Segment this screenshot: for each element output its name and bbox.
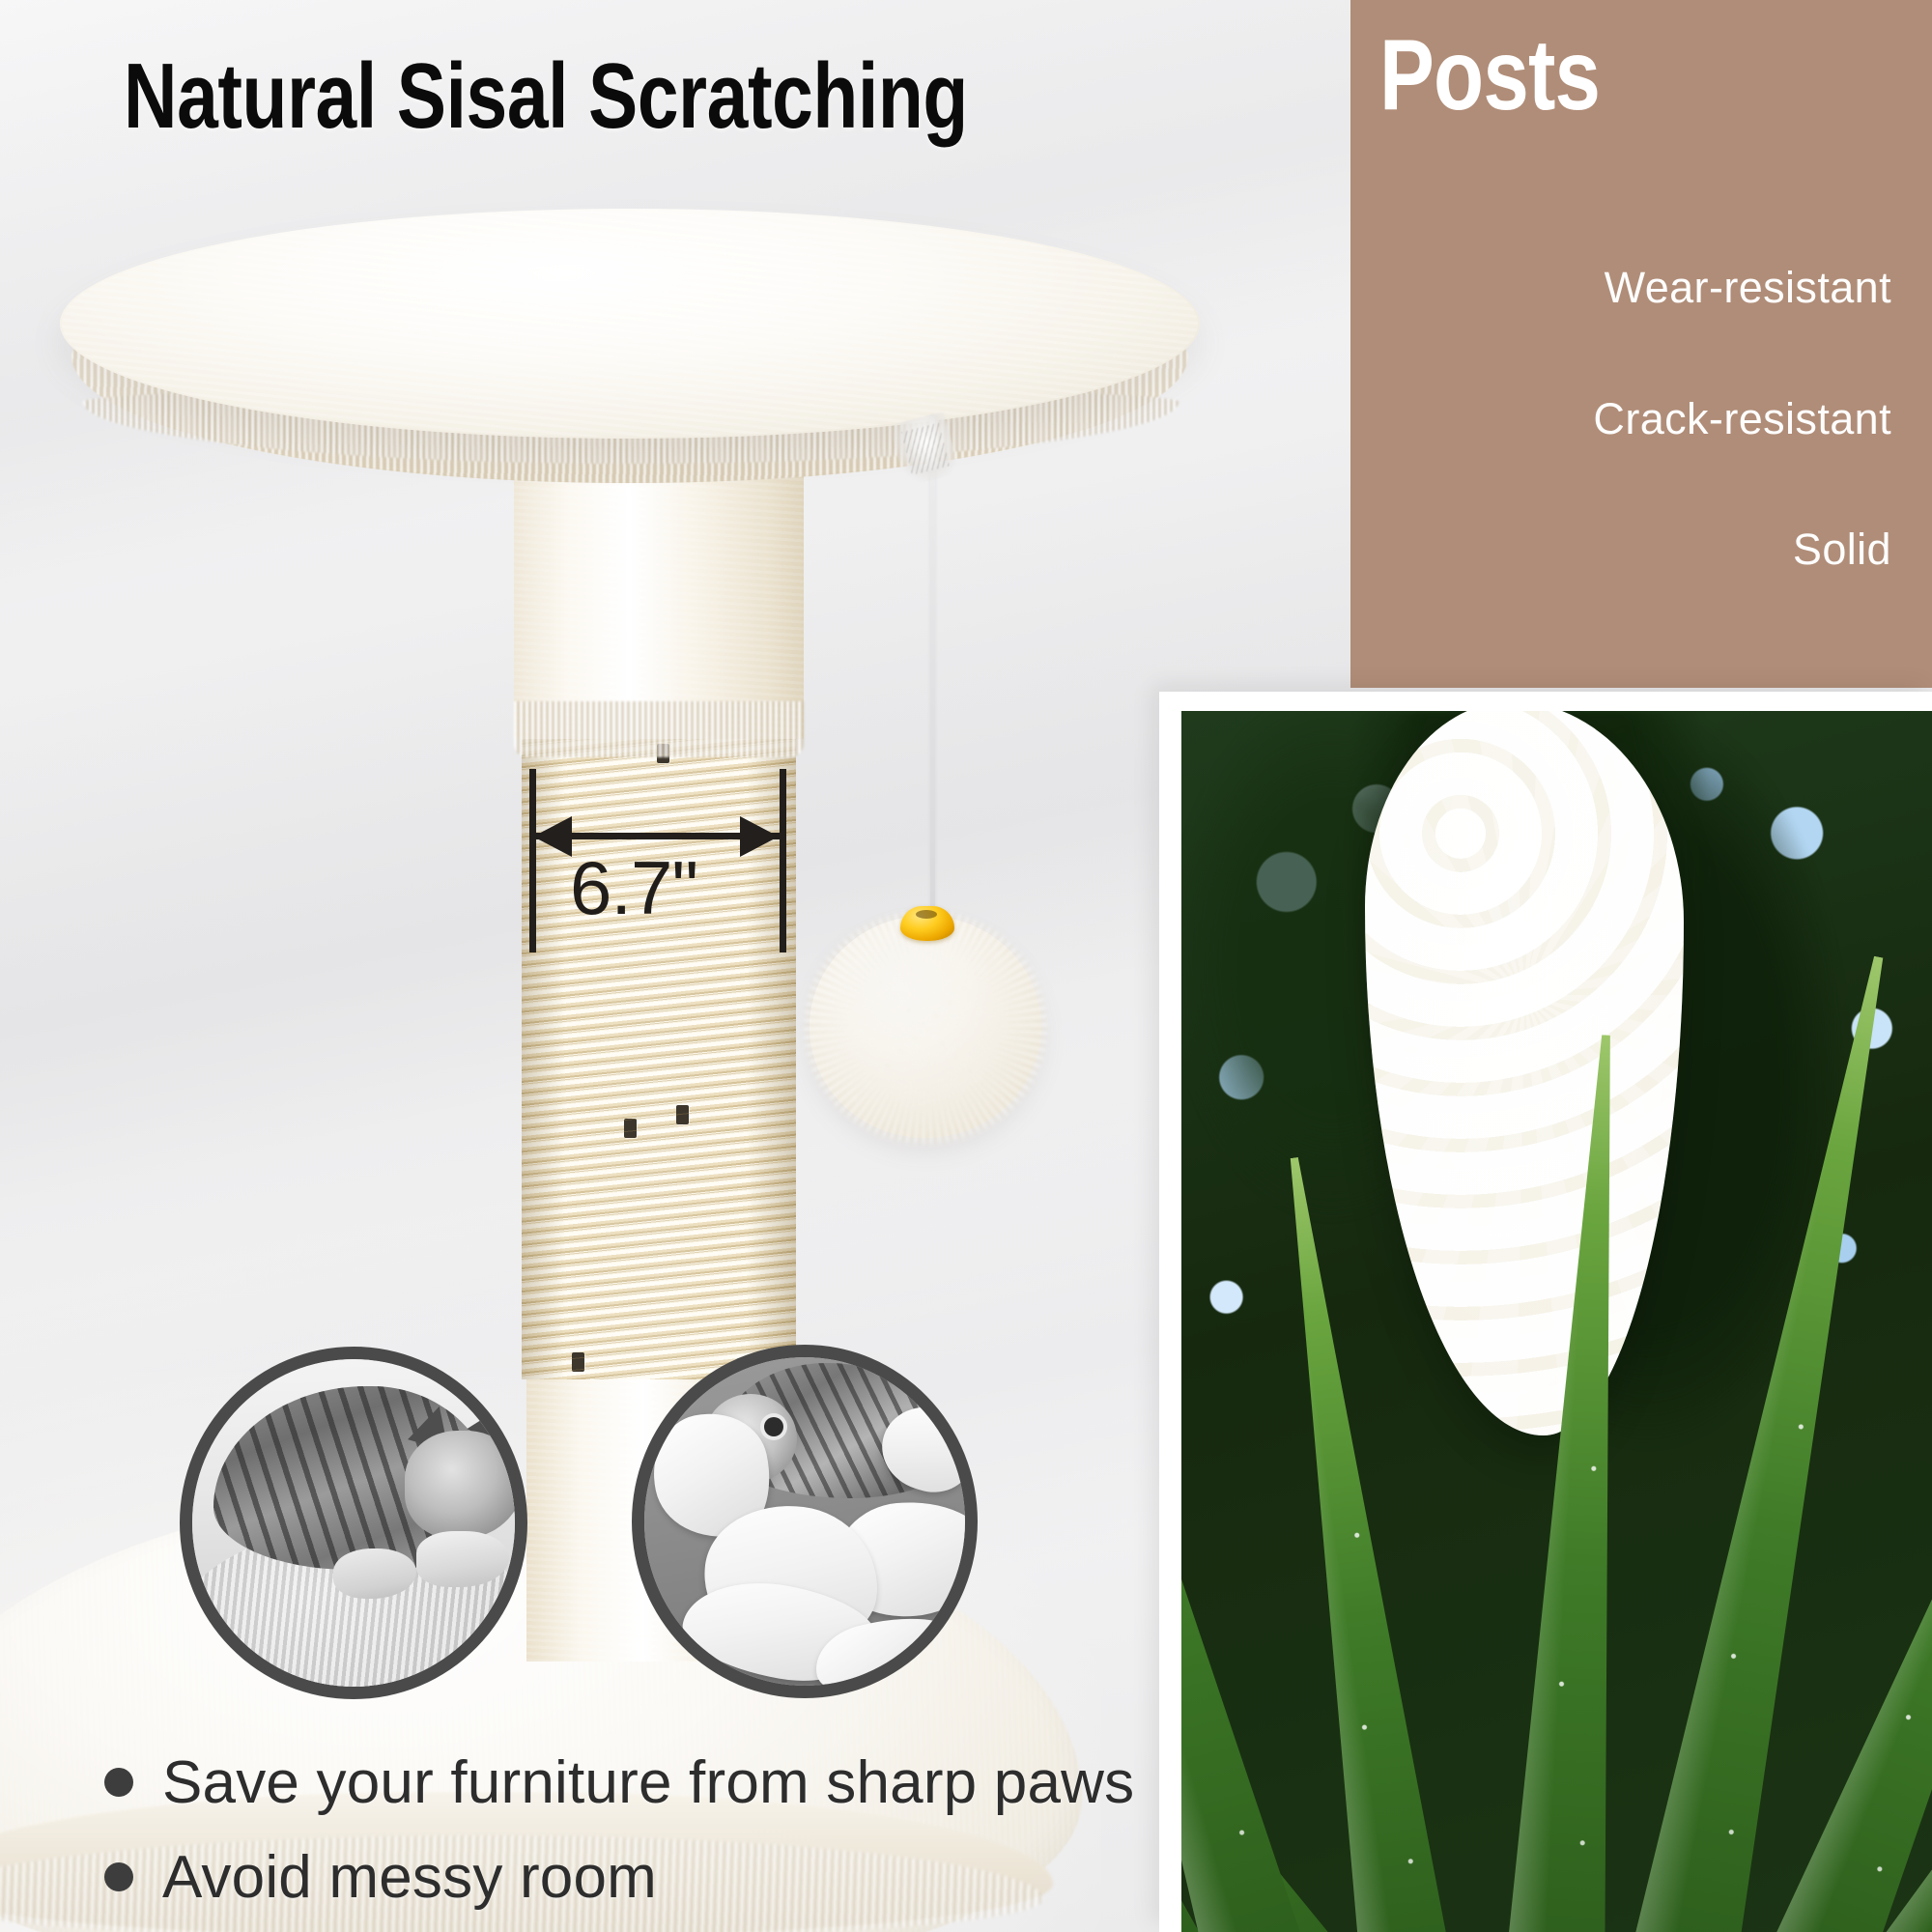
side-photo-frame bbox=[1159, 692, 1932, 1932]
benefit-text: Save your furniture from sharp paws bbox=[162, 1748, 1134, 1817]
list-item: Avoid messy room bbox=[104, 1830, 1134, 1924]
staple-icon bbox=[572, 1352, 584, 1372]
dimension-tick-left bbox=[529, 769, 536, 952]
bullet-dot-icon bbox=[104, 1862, 133, 1891]
inset-cat-scratching-cushion bbox=[180, 1347, 527, 1699]
list-item: Save your furniture from sharp paws bbox=[104, 1735, 1134, 1830]
plush-upper-post-fringe bbox=[514, 701, 804, 757]
feature-panel: Posts Wear-resistant Crack-resistant Sol… bbox=[1350, 0, 1932, 688]
plush-top-platform bbox=[60, 209, 1200, 439]
staple-icon bbox=[624, 1119, 637, 1138]
bell-icon bbox=[900, 906, 954, 941]
dimension-label: 6.7" bbox=[570, 850, 697, 925]
feature-item-crack-resistant: Crack-resistant bbox=[1593, 394, 1891, 444]
bullet-dot-icon bbox=[104, 1768, 133, 1797]
arrow-left-icon bbox=[533, 816, 572, 857]
feature-item-wear-resistant: Wear-resistant bbox=[1605, 263, 1891, 313]
headline-accent: Posts bbox=[1379, 25, 1600, 126]
page-title: Natural Sisal Scratching bbox=[124, 50, 968, 143]
dimension-tick-right bbox=[780, 769, 786, 952]
kitten-eye-icon bbox=[764, 1417, 783, 1436]
arrow-right-icon bbox=[740, 816, 779, 857]
feature-item-solid: Solid bbox=[1793, 525, 1891, 575]
dimension-callout: 6.7" bbox=[529, 769, 796, 952]
benefit-list: Save your furniture from sharp paws Avoi… bbox=[104, 1735, 1134, 1924]
pompom-toy bbox=[810, 916, 1041, 1138]
product-poster: 6.7" Posts Wear-resistant Crack-resistan… bbox=[0, 0, 1932, 1932]
inset-kitten-shredded-tissue bbox=[632, 1345, 978, 1698]
staple-icon bbox=[676, 1105, 689, 1124]
benefit-text: Avoid messy room bbox=[162, 1843, 657, 1912]
yucca-plant-photo bbox=[1181, 711, 1932, 1932]
toy-string bbox=[930, 415, 935, 927]
